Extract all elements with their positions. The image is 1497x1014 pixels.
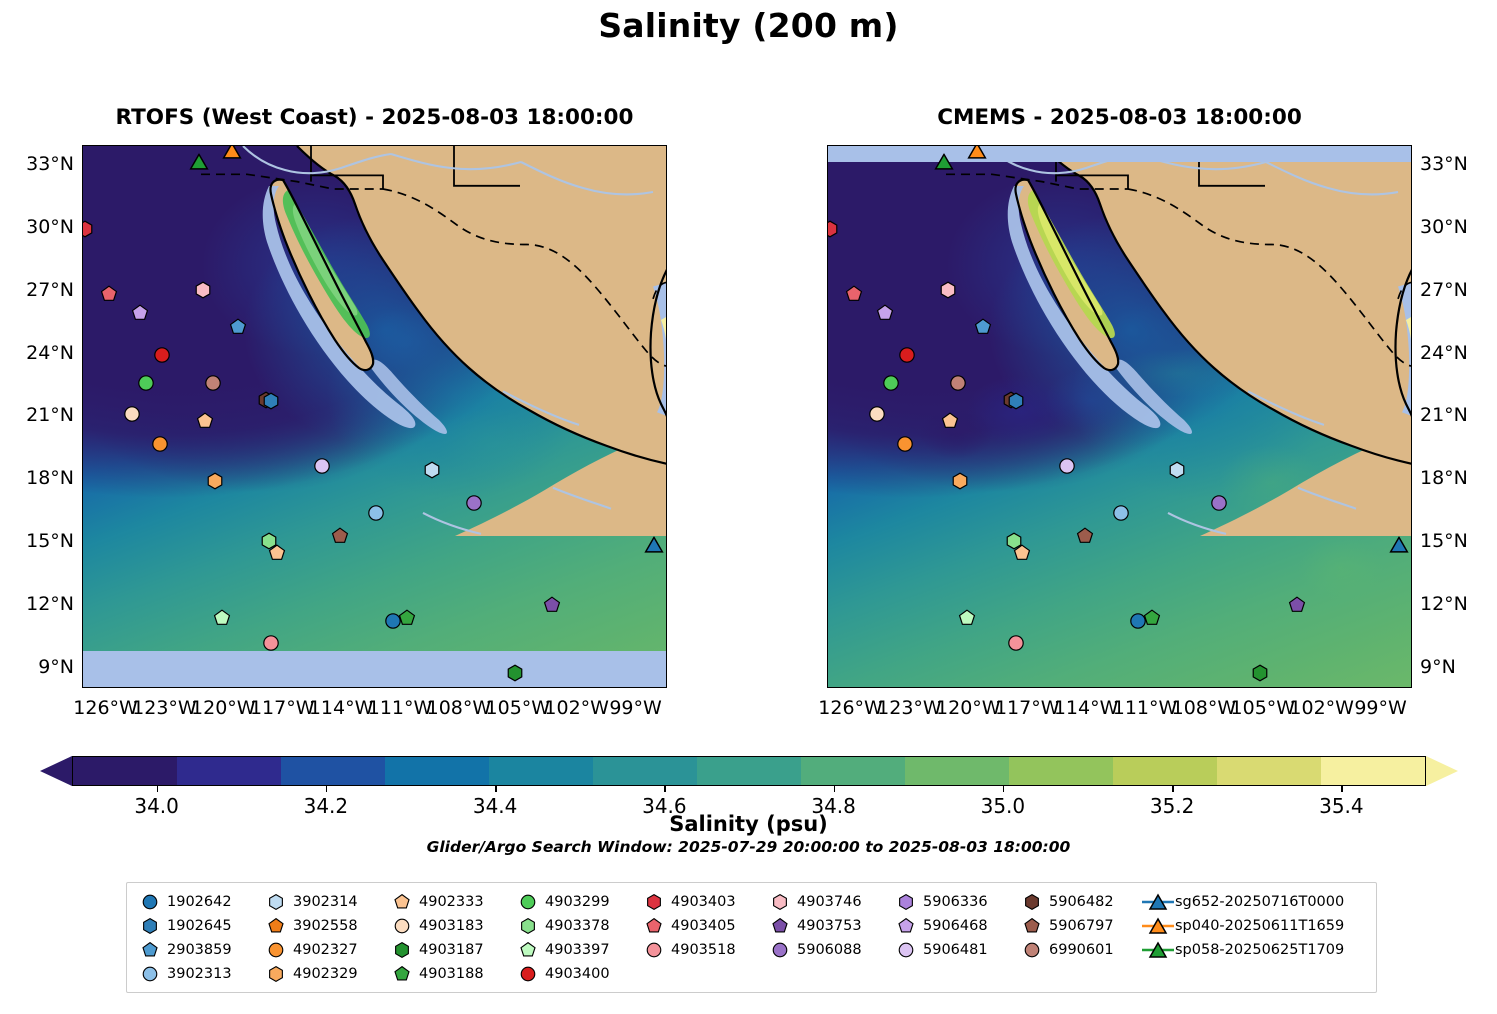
legend-label: 4903378: [545, 918, 610, 934]
legend-item-sp058-20250625T1709[interactable]: sp058-20250625T1709: [1141, 939, 1331, 960]
legend-label: 4902329: [293, 966, 358, 982]
map-marker-5906481[interactable]: [1059, 457, 1076, 474]
map-marker-3902313[interactable]: [367, 504, 384, 521]
x-tick-label: 114°W: [309, 697, 374, 719]
x-tick-label: 126°W: [73, 697, 138, 719]
legend-item-sp040-20250611T1659[interactable]: sp040-20250611T1659: [1141, 915, 1331, 936]
x-tick-minor: [1009, 687, 1011, 688]
map-marker-4902329[interactable]: [951, 473, 968, 490]
no-data-band: [83, 651, 666, 687]
map-marker-3902314[interactable]: [1169, 461, 1186, 478]
y-tick-minor: [1411, 322, 1412, 324]
map-marker-4903403[interactable]: [827, 220, 838, 237]
map-marker-4903188[interactable]: [398, 609, 415, 626]
salinity-field-rtofs: [83, 146, 666, 687]
legend-item-4903397[interactable]: 4903397: [511, 939, 637, 960]
legend-marker-circle-icon: [763, 942, 797, 958]
legend-label: 4903187: [419, 942, 484, 958]
legend-item-4903518[interactable]: 4903518: [637, 939, 763, 960]
legend-marker-circle-icon: [259, 942, 293, 958]
map-marker-4902327[interactable]: [151, 435, 168, 452]
colorbar-tick: [495, 786, 496, 792]
x-tick-label: 117°W: [995, 697, 1060, 719]
legend-label: 1902645: [167, 918, 232, 934]
colorbar-tick: [664, 786, 665, 792]
legend-label: 5906088: [797, 942, 862, 958]
y-tick: [1411, 354, 1412, 356]
x-tick-label: 123°W: [877, 697, 942, 719]
y-tick-minor: [82, 511, 83, 513]
legend-marker-circle-icon: [1015, 942, 1049, 958]
x-tick-label: 126°W: [818, 697, 883, 719]
map-marker-4903753[interactable]: [1289, 597, 1306, 614]
map-marker-4903188[interactable]: [1143, 609, 1160, 626]
map-marker-4903753[interactable]: [544, 597, 561, 614]
legend-item-4903746[interactable]: 4903746: [763, 891, 889, 912]
colorbar-tick: [834, 786, 835, 792]
y-tick-minor: [82, 574, 83, 576]
y-tick-label: 27°N: [26, 279, 74, 301]
colorbar-tick: [326, 786, 327, 792]
x-tick: [1264, 687, 1266, 688]
map-marker-sp058-20250625T1709[interactable]: [933, 153, 954, 174]
y-tick-minor: [82, 196, 83, 198]
x-tick: [107, 687, 109, 688]
y-tick-label: 33°N: [1420, 153, 1468, 175]
map-marker-4902333[interactable]: [941, 412, 958, 429]
legend-marker-circle-icon: [133, 966, 167, 982]
x-tick: [1087, 687, 1089, 688]
y-tick-minor: [1411, 448, 1412, 450]
y-tick: [82, 228, 83, 230]
legend-label: 4903397: [545, 942, 610, 958]
legend-item-5906481[interactable]: 5906481: [889, 939, 1015, 960]
x-tick: [1028, 687, 1030, 688]
legend-label: 4903183: [419, 918, 484, 934]
x-tick-label: 99°W: [1354, 697, 1406, 719]
map-marker-4902327[interactable]: [896, 435, 913, 452]
x-tick-minor: [871, 687, 873, 688]
y-tick: [82, 542, 83, 544]
y-tick-label: 24°N: [1420, 342, 1468, 364]
legend-item-3902558[interactable]: 3902558: [259, 915, 385, 936]
y-tick: [82, 354, 83, 356]
x-tick-minor: [1283, 687, 1285, 688]
y-tick-label: 18°N: [26, 467, 74, 489]
map-marker-4903400[interactable]: [898, 346, 915, 363]
x-tick-minor: [597, 687, 599, 688]
y-tick-label: 9°N: [38, 656, 74, 678]
colorbar-gradient: [72, 756, 1426, 786]
x-tick-label: 105°W: [1231, 697, 1296, 719]
x-tick: [1323, 687, 1325, 688]
no-data-band: [828, 146, 1411, 162]
map-marker-4903400[interactable]: [153, 346, 170, 363]
y-tick-label: 21°N: [26, 404, 74, 426]
colorbar-tick: [1172, 786, 1173, 792]
legend-marker-hexagon-icon: [763, 894, 797, 910]
legend-label: sg652-20250716T0000: [1175, 894, 1344, 910]
legend-column-5: 490374649037535906088: [763, 891, 889, 984]
y-tick-label: 12°N: [1420, 593, 1468, 615]
panel-title-cmems: CMEMS - 2025-08-03 18:00:00: [827, 105, 1412, 130]
legend-column-8: sg652-20250716T0000sp040-20250611T1659sp…: [1141, 891, 1331, 984]
legend-marker-circle-icon: [511, 966, 545, 982]
map-marker-4903299[interactable]: [137, 374, 154, 391]
legend-label: 4903518: [671, 942, 736, 958]
x-tick: [1146, 687, 1148, 688]
map-marker-4903187[interactable]: [506, 665, 523, 682]
x-tick: [401, 687, 403, 688]
x-tick-minor: [1303, 687, 1305, 688]
x-tick-minor: [1185, 687, 1187, 688]
legend-marker-triangle-icon: [1141, 917, 1175, 935]
legend-label: 3902314: [293, 894, 358, 910]
map-marker-sp040-20250611T1659[interactable]: [967, 145, 988, 164]
legend-item-4902333[interactable]: 4902333: [385, 891, 511, 912]
x-tick-label: 102°W: [544, 697, 609, 719]
map-marker-4903746[interactable]: [939, 281, 956, 298]
x-tick-minor: [381, 687, 383, 688]
x-tick: [224, 687, 226, 688]
map-marker-6990601[interactable]: [204, 374, 221, 391]
x-tick-minor: [1166, 687, 1168, 688]
legend-column-6: 590633659064685906481: [889, 891, 1015, 984]
y-tick-label: 30°N: [1420, 216, 1468, 238]
legend-item-4903400[interactable]: 4903400: [511, 963, 637, 984]
legend-column-3: 4903299490337849033974903400: [511, 891, 637, 984]
y-tick: [82, 291, 83, 293]
legend-item-5906088[interactable]: 5906088: [763, 939, 889, 960]
map-marker-5906468[interactable]: [131, 304, 148, 321]
search-window-subtitle: Glider/Argo Search Window: 2025-07-29 20…: [0, 838, 1497, 856]
legend-marker-hexagon-icon: [259, 894, 293, 910]
colorbar-title: Salinity (psu): [0, 812, 1497, 836]
x-tick: [852, 687, 854, 688]
map-marker-3902313[interactable]: [1112, 504, 1129, 521]
x-tick: [637, 687, 639, 688]
legend-label: 4903746: [797, 894, 862, 910]
x-tick: [910, 687, 912, 688]
x-tick: [460, 687, 462, 688]
x-tick-minor: [205, 687, 207, 688]
map-marker-2903859[interactable]: [230, 319, 247, 336]
x-tick-minor: [244, 687, 246, 688]
y-tick-minor: [82, 448, 83, 450]
map-marker-sp058-20250625T1709[interactable]: [188, 153, 209, 174]
map-frame-cmems[interactable]: [827, 145, 1412, 688]
legend-marker-triangle-icon: [1141, 941, 1175, 959]
map-marker-4903405[interactable]: [845, 285, 862, 302]
legend-marker-hexagon-icon: [889, 894, 923, 910]
legend-marker-triangle-icon: [1141, 893, 1175, 911]
x-tick-minor: [1107, 687, 1109, 688]
y-tick-label: 15°N: [1420, 530, 1468, 552]
x-tick-label: 117°W: [250, 697, 315, 719]
legend-label: 4903405: [671, 918, 736, 934]
legend-label: 4902333: [419, 894, 484, 910]
x-tick-minor: [322, 687, 324, 688]
legend-label: 4903403: [671, 894, 736, 910]
legend-marker-hexagon-icon: [1015, 894, 1049, 910]
map-marker-4903518[interactable]: [263, 634, 280, 651]
x-tick-label: 111°W: [368, 697, 433, 719]
map-marker-5906797[interactable]: [332, 527, 349, 544]
legend-marker-circle-icon: [133, 894, 167, 910]
map-marker-sg652-20250716T0000[interactable]: [644, 537, 665, 558]
panel-title-rtofs: RTOFS (West Coast) - 2025-08-03 18:00:00: [82, 105, 667, 130]
legend-item-5906482[interactable]: 5906482: [1015, 891, 1141, 912]
x-tick-minor: [1362, 687, 1364, 688]
x-tick-minor: [617, 687, 619, 688]
map-marker-4903405[interactable]: [100, 285, 117, 302]
x-tick-minor: [1244, 687, 1246, 688]
map-marker-4903397[interactable]: [959, 609, 976, 626]
y-tick-minor: [1411, 511, 1412, 513]
legend-label: 4903299: [545, 894, 610, 910]
x-tick: [1205, 687, 1207, 688]
map-panel-rtofs[interactable]: RTOFS (West Coast) - 2025-08-03 18:00:00: [82, 145, 667, 688]
legend-label: 4903753: [797, 918, 862, 934]
legend-label: 6990601: [1049, 942, 1114, 958]
y-tick-label: 27°N: [1420, 279, 1468, 301]
legend-marker-circle-icon: [637, 942, 671, 958]
x-tick-label: 120°W: [191, 697, 256, 719]
map-marker-5906797[interactable]: [1077, 527, 1094, 544]
y-tick-minor: [1411, 574, 1412, 576]
y-tick-label: 9°N: [1420, 656, 1456, 678]
x-tick-label: 108°W: [1172, 697, 1237, 719]
page-title: Salinity (200 m): [0, 6, 1497, 45]
y-tick-label: 18°N: [1420, 467, 1468, 489]
x-tick-minor: [558, 687, 560, 688]
y-tick: [1411, 542, 1412, 544]
y-tick-label: 15°N: [26, 530, 74, 552]
y-tick: [1411, 228, 1412, 230]
coastline-and-borders: [83, 146, 666, 687]
y-tick-minor: [1411, 385, 1412, 387]
map-marker-5906088[interactable]: [465, 495, 482, 512]
legend-item-3902313[interactable]: 3902313: [133, 963, 259, 984]
legend-item-4902329[interactable]: 4902329: [259, 963, 385, 984]
x-tick-minor: [538, 687, 540, 688]
legend-label: 2903859: [167, 942, 232, 958]
legend-item-4903378[interactable]: 4903378: [511, 915, 637, 936]
map-marker-sg652-20250716T0000[interactable]: [1389, 537, 1410, 558]
map-panel-cmems[interactable]: CMEMS - 2025-08-03 18:00:00: [827, 145, 1412, 688]
legend-marker-pentagon-icon: [511, 942, 545, 958]
x-tick-label: 105°W: [486, 697, 551, 719]
legend-marker-pentagon-icon: [763, 918, 797, 934]
legend-item-1902645[interactable]: 1902645: [133, 915, 259, 936]
y-tick-label: 30°N: [26, 216, 74, 238]
legend-marker-pentagon-icon: [259, 918, 293, 934]
x-tick-minor: [1048, 687, 1050, 688]
map-marker-4903299[interactable]: [882, 374, 899, 391]
x-tick-minor: [440, 687, 442, 688]
legend-item-4903403[interactable]: 4903403: [637, 891, 763, 912]
legend-item-1902642[interactable]: 1902642: [133, 891, 259, 912]
x-tick-label: 120°W: [936, 697, 1001, 719]
legend-item-4903753[interactable]: 4903753: [763, 915, 889, 936]
x-tick: [1382, 687, 1384, 688]
y-tick-minor: [82, 637, 83, 639]
y-tick: [82, 165, 83, 167]
legend-column-2: 4902333490318349031874903188: [385, 891, 511, 984]
y-tick: [1411, 291, 1412, 293]
legend-label: 4902327: [293, 942, 358, 958]
y-tick: [82, 479, 83, 481]
map-frame-rtofs[interactable]: [82, 145, 667, 688]
x-tick-label: 99°W: [609, 697, 661, 719]
legend-label: 4903400: [545, 966, 610, 982]
salinity-field-cmems: [828, 146, 1411, 687]
x-tick: [519, 687, 521, 688]
map-marker-2903859[interactable]: [975, 319, 992, 336]
legend-label: 4903188: [419, 966, 484, 982]
legend-label: 5906797: [1049, 918, 1114, 934]
y-tick-label: 33°N: [26, 153, 74, 175]
legend-label: 3902313: [167, 966, 232, 982]
x-tick: [283, 687, 285, 688]
map-marker-6990601[interactable]: [949, 374, 966, 391]
map-marker-4903187[interactable]: [1251, 665, 1268, 682]
legend-marker-circle-icon: [511, 894, 545, 910]
x-tick-minor: [1342, 687, 1344, 688]
map-marker-5906088[interactable]: [1210, 495, 1227, 512]
legend-marker-hexagon-icon: [259, 966, 293, 982]
legend-item-4903183[interactable]: 4903183: [385, 915, 511, 936]
colorbar-tick: [1003, 786, 1004, 792]
map-marker-3902314[interactable]: [424, 461, 441, 478]
legend-label: 5906336: [923, 894, 988, 910]
x-tick-minor: [264, 687, 266, 688]
map-marker-1902645[interactable]: [263, 392, 280, 409]
y-tick-minor: [82, 322, 83, 324]
map-marker-4903183[interactable]: [124, 406, 141, 423]
legend-marker-pentagon-icon: [889, 918, 923, 934]
legend-item-5906468[interactable]: 5906468: [889, 915, 1015, 936]
legend-label: 5906481: [923, 942, 988, 958]
map-marker-4902333[interactable]: [196, 412, 213, 429]
map-marker-5906481[interactable]: [314, 457, 331, 474]
x-tick-minor: [989, 687, 991, 688]
x-tick: [969, 687, 971, 688]
y-tick: [82, 416, 83, 418]
map-marker-1902645[interactable]: [1008, 392, 1025, 409]
map-marker-4903397[interactable]: [214, 609, 231, 626]
x-tick-minor: [146, 687, 148, 688]
x-tick-minor: [1225, 687, 1227, 688]
x-tick-label: 102°W: [1289, 697, 1354, 719]
legend-label: 5906468: [923, 918, 988, 934]
x-tick: [578, 687, 580, 688]
y-tick-label: 21°N: [1420, 404, 1468, 426]
x-tick-minor: [480, 687, 482, 688]
legend-item-sg652-20250716T0000[interactable]: sg652-20250716T0000: [1141, 891, 1331, 912]
map-marker-4903183[interactable]: [869, 406, 886, 423]
legend-label: 3902558: [293, 918, 358, 934]
y-tick: [1411, 605, 1412, 607]
x-tick-label: 111°W: [1113, 697, 1178, 719]
y-tick: [82, 605, 83, 607]
legend-label: sp040-20250611T1659: [1175, 918, 1344, 934]
legend-item-4903405[interactable]: 4903405: [637, 915, 763, 936]
colorbar-extend-min: [40, 756, 72, 786]
legend-item-4903187[interactable]: 4903187: [385, 939, 511, 960]
x-tick-minor: [950, 687, 952, 688]
legend-label: 1902642: [167, 894, 232, 910]
legend-marker-pentagon-icon: [133, 942, 167, 958]
y-tick-minor: [1411, 259, 1412, 261]
x-tick-minor: [421, 687, 423, 688]
y-tick-minor: [1411, 637, 1412, 639]
x-tick: [342, 687, 344, 688]
x-tick: [165, 687, 167, 688]
y-tick: [1411, 165, 1412, 167]
coastline-and-borders: [828, 146, 1411, 687]
y-tick: [1411, 479, 1412, 481]
legend-item-5906797[interactable]: 5906797: [1015, 915, 1141, 936]
colorbar-tick: [1341, 786, 1342, 792]
legend-label: 5906482: [1049, 894, 1114, 910]
map-marker-4903746[interactable]: [194, 281, 211, 298]
x-tick-minor: [1126, 687, 1128, 688]
legend-marker-hexagon-icon: [385, 942, 419, 958]
legend-marker-pentagon-icon: [637, 918, 671, 934]
x-tick-minor: [126, 687, 128, 688]
legend-marker-circle-icon: [385, 918, 419, 934]
y-tick-label: 12°N: [26, 593, 74, 615]
legend-item-2903859[interactable]: 2903859: [133, 939, 259, 960]
legend-item-5906336[interactable]: 5906336: [889, 891, 1015, 912]
legend-marker-circle-icon: [889, 942, 923, 958]
y-tick-minor: [1411, 196, 1412, 198]
x-tick-minor: [499, 687, 501, 688]
x-tick-label: 123°W: [132, 697, 197, 719]
colorbar-tick: [157, 786, 158, 792]
map-marker-4903518[interactable]: [1008, 634, 1025, 651]
legend-item-6990601[interactable]: 6990601: [1015, 939, 1141, 960]
legend-item-4903299[interactable]: 4903299: [511, 891, 637, 912]
x-tick-minor: [1067, 687, 1069, 688]
legend-column-1: 3902314390255849023274902329: [259, 891, 385, 984]
legend-item-4902327[interactable]: 4902327: [259, 939, 385, 960]
platform-legend[interactable]: 1902642190264529038593902313390231439025…: [126, 882, 1377, 993]
map-marker-5906468[interactable]: [876, 304, 893, 321]
map-marker-4902333b[interactable]: [1014, 544, 1031, 561]
map-marker-sp040-20250611T1659[interactable]: [222, 145, 243, 164]
map-marker-4903403[interactable]: [82, 220, 93, 237]
map-marker-4902329[interactable]: [206, 473, 223, 490]
y-tick-minor: [82, 259, 83, 261]
legend-item-4903188[interactable]: 4903188: [385, 963, 511, 984]
map-marker-4902333b[interactable]: [269, 544, 286, 561]
legend-marker-hexagon-icon: [133, 918, 167, 934]
y-tick-label: 24°N: [26, 342, 74, 364]
legend-column-7: 590648259067976990601: [1015, 891, 1141, 984]
y-tick: [82, 668, 83, 670]
legend-column-4: 490340349034054903518: [637, 891, 763, 984]
y-tick-minor: [82, 385, 83, 387]
legend-marker-hexagon-icon: [637, 894, 671, 910]
x-tick-minor: [891, 687, 893, 688]
legend-label: sp058-20250625T1709: [1175, 942, 1344, 958]
legend-marker-pentagon-icon: [385, 966, 419, 982]
legend-column-0: 1902642190264529038593902313: [133, 891, 259, 984]
legend-item-3902314[interactable]: 3902314: [259, 891, 385, 912]
x-tick-label: 108°W: [427, 697, 492, 719]
